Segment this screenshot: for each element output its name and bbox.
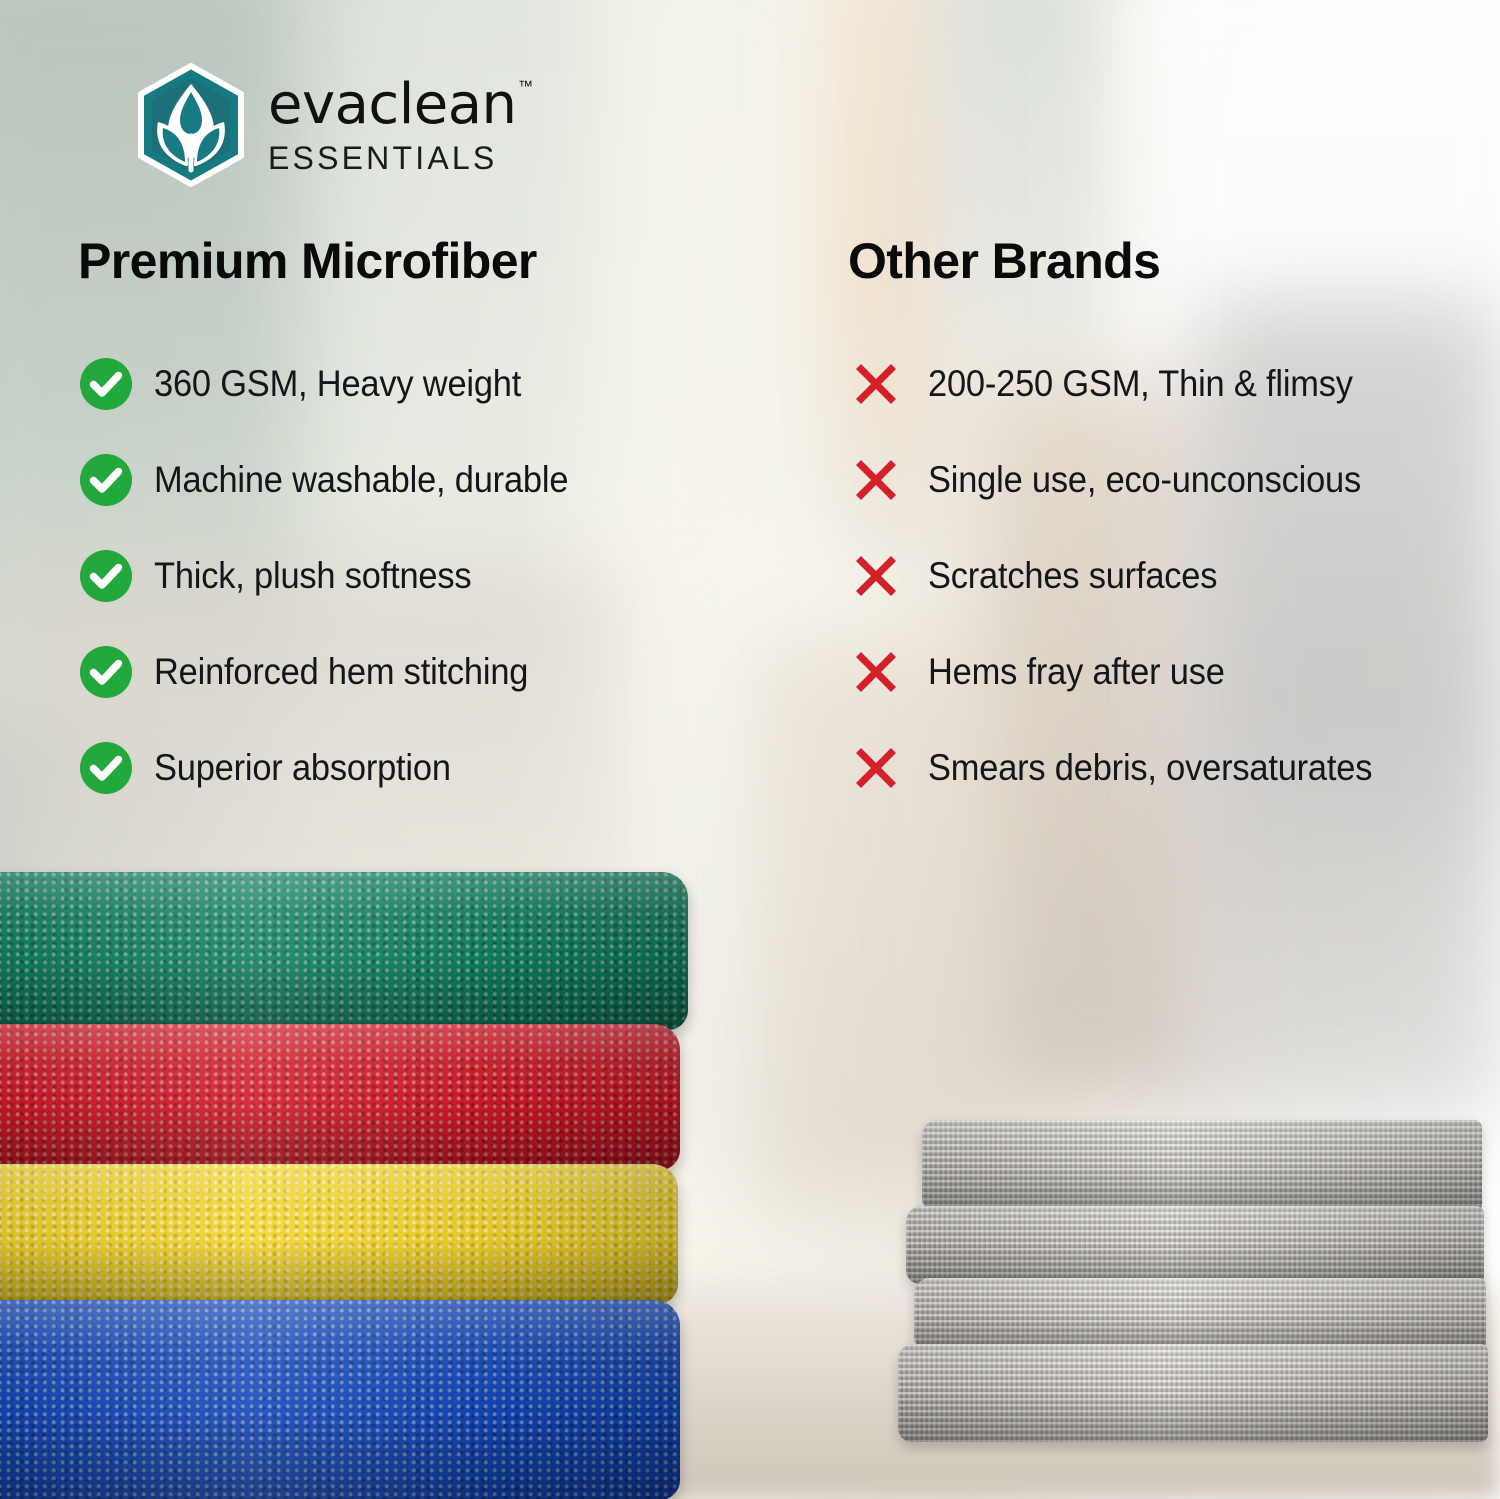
feature-row: Machine washable, durable	[78, 432, 718, 528]
check-circle-icon	[78, 356, 134, 412]
check-circle-icon	[78, 644, 134, 700]
feature-label: Hems fray after use	[928, 651, 1225, 693]
brand-tagline: ESSENTIALS	[268, 142, 533, 174]
towel-red	[0, 1024, 680, 1170]
feature-row: Superior absorption	[78, 720, 718, 816]
brand-name-text: evaclean	[268, 72, 517, 137]
feature-label: Smears debris, oversaturates	[928, 747, 1372, 789]
feature-label: Machine washable, durable	[154, 459, 568, 501]
towel-gray	[898, 1344, 1488, 1442]
feature-row: Hems fray after use	[848, 624, 1488, 720]
feature-label: Reinforced hem stitching	[154, 651, 528, 693]
check-circle-icon	[78, 548, 134, 604]
towel-gray	[922, 1120, 1482, 1212]
gray-towel-stack	[880, 1120, 1486, 1460]
feature-row: Reinforced hem stitching	[78, 624, 718, 720]
other-brands-feature-list: 200-250 GSM, Thin & flimsy Single use, e…	[848, 336, 1488, 816]
cross-mark-icon	[848, 452, 904, 508]
premium-microfiber-column: Premium Microfiber 360 GSM, Heavy weight	[78, 232, 718, 816]
infographic-canvas: evaclean™ ESSENTIALS Premium Microfiber …	[0, 0, 1500, 1499]
trademark-symbol: ™	[518, 79, 533, 94]
feature-label: Scratches surfaces	[928, 555, 1217, 597]
feature-label: 360 GSM, Heavy weight	[154, 363, 521, 405]
feature-row: Scratches surfaces	[848, 528, 1488, 624]
feature-label: Thick, plush softness	[154, 555, 471, 597]
feature-label: Single use, eco-unconscious	[928, 459, 1361, 501]
towel-yellow	[0, 1164, 678, 1304]
feature-row: Single use, eco-unconscious	[848, 432, 1488, 528]
cross-mark-icon	[848, 740, 904, 796]
feature-row: Smears debris, oversaturates	[848, 720, 1488, 816]
towel-green	[0, 872, 688, 1030]
cross-mark-icon	[848, 644, 904, 700]
feature-row: Thick, plush softness	[78, 528, 718, 624]
hexagon-droplet-leaf-icon	[128, 62, 254, 188]
check-circle-icon	[78, 452, 134, 508]
feature-row: 200-250 GSM, Thin & flimsy	[848, 336, 1488, 432]
feature-row: 360 GSM, Heavy weight	[78, 336, 718, 432]
check-circle-icon	[78, 740, 134, 796]
colored-microfiber-towel-stack	[0, 872, 688, 1432]
cross-mark-icon	[848, 548, 904, 604]
other-brands-column: Other Brands 200-250 GSM, Thin & flimsy …	[848, 232, 1488, 816]
other-brands-column-title: Other Brands	[848, 232, 1488, 290]
premium-column-title: Premium Microfiber	[78, 232, 718, 290]
towel-blue	[0, 1300, 680, 1499]
towel-gray	[914, 1278, 1486, 1350]
towel-gray	[906, 1206, 1484, 1284]
cross-mark-icon	[848, 356, 904, 412]
feature-label: Superior absorption	[154, 747, 451, 789]
brand-name: evaclean™	[268, 77, 533, 133]
feature-label: 200-250 GSM, Thin & flimsy	[928, 363, 1353, 405]
brand-wordmark: evaclean™ ESSENTIALS	[268, 77, 533, 174]
premium-feature-list: 360 GSM, Heavy weight Machine washable, …	[78, 336, 718, 816]
brand-logo: evaclean™ ESSENTIALS	[128, 62, 533, 188]
